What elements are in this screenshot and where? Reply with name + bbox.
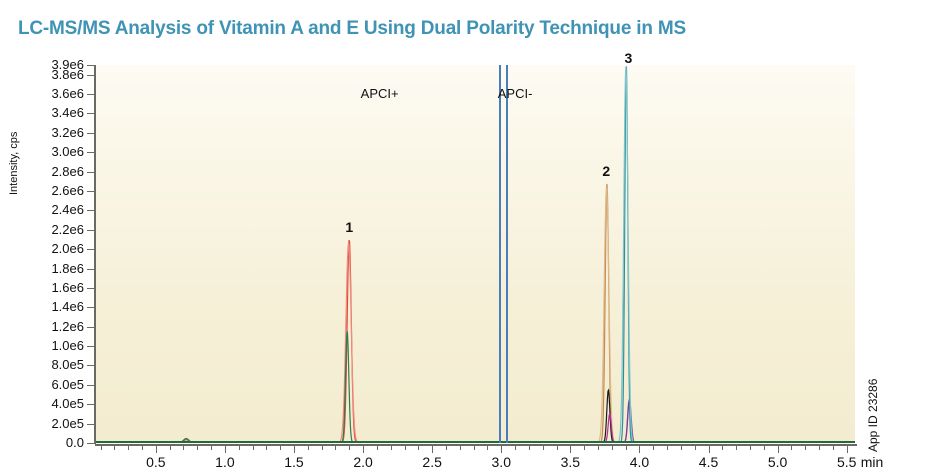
- x-axis-tick-minor: [211, 446, 212, 450]
- x-axis-tick-minor: [791, 446, 792, 450]
- x-axis-tick-minor: [805, 446, 806, 450]
- x-axis-tick-minor: [460, 446, 461, 450]
- x-axis-tick-minor: [391, 446, 392, 450]
- x-axis-tick-minor: [750, 446, 751, 450]
- x-axis-tick-minor: [377, 446, 378, 450]
- x-axis-tick-minor: [626, 446, 627, 450]
- x-axis-tick-minor: [515, 446, 516, 450]
- trace-trace-tanlight-vitE: [95, 187, 855, 442]
- y-axis-tick: [87, 172, 95, 173]
- x-axis-tick-major: [501, 446, 502, 453]
- y-axis-tick: [87, 443, 95, 444]
- x-axis-tick-minor: [239, 446, 240, 450]
- y-axis-tick: [87, 404, 95, 405]
- peak-label-2: 2: [602, 163, 610, 179]
- y-axis-tick: [87, 191, 95, 192]
- y-axis-tick-label: 3.4e6: [51, 106, 84, 119]
- y-axis-tick-label: 6.0e5: [51, 378, 84, 391]
- page-title: LC-MS/MS Analysis of Vitamin A and E Usi…: [18, 18, 686, 40]
- trace-trace-red-vitA: [95, 240, 855, 443]
- peak-label-1: 1: [345, 219, 353, 235]
- y-axis-tick-label: 3.0e6: [51, 145, 84, 158]
- x-axis-tick-minor: [335, 446, 336, 450]
- x-axis-tick-minor: [266, 446, 267, 450]
- x-axis-tick-minor: [833, 446, 834, 450]
- x-axis-tick-minor: [418, 446, 419, 450]
- x-axis-tick-minor: [598, 446, 599, 450]
- y-axis-tick: [87, 327, 95, 328]
- x-axis-tick-label: 1.0: [215, 454, 234, 470]
- x-axis-tick-label: 1.5: [284, 454, 303, 470]
- y-axis-tick-label: 2.4e6: [51, 203, 84, 216]
- x-axis-tick-minor: [736, 446, 737, 450]
- x-axis-tick-minor: [308, 446, 309, 450]
- x-axis-tick-minor: [653, 446, 654, 450]
- x-axis-tick-label: 5.0: [768, 454, 787, 470]
- y-axis-tick-label: 1.4e6: [51, 300, 84, 313]
- y-axis-tick-label: 8.0e5: [51, 358, 84, 371]
- y-axis-tick-label: 1.2e6: [51, 320, 84, 333]
- x-axis-tick-minor: [322, 446, 323, 450]
- app-id-label: App ID 23286: [866, 379, 880, 452]
- y-axis-tick: [87, 307, 95, 308]
- y-axis-tick: [87, 65, 95, 66]
- x-axis-tick-major: [570, 446, 571, 453]
- annotation-apci-positive: APCI+: [361, 86, 399, 101]
- x-axis-tick-minor: [529, 446, 530, 450]
- x-axis-tick-minor: [764, 446, 765, 450]
- plot-area[interactable]: [95, 65, 855, 443]
- x-axis-tick-minor: [128, 446, 129, 450]
- chromatogram-traces: [95, 65, 855, 443]
- x-axis-tick-label: 2.0: [353, 454, 372, 470]
- trace-trace-teal-vitE: [95, 66, 855, 442]
- y-axis-tick-label: 1.8e6: [51, 262, 84, 275]
- trace-trace-black: [95, 390, 855, 442]
- y-axis-line: [94, 65, 96, 444]
- y-axis-tick-label: 4.0e5: [51, 397, 84, 410]
- y-axis-tick-label: 2.8e6: [51, 165, 84, 178]
- x-axis-tick-label: 4.5: [699, 454, 718, 470]
- x-axis-tick-label: 2.5: [422, 454, 441, 470]
- x-axis-tick-minor: [667, 446, 668, 450]
- y-axis-tick-label: 3.9e6: [51, 58, 84, 71]
- x-axis-tick-minor: [101, 446, 102, 450]
- x-axis-tick-major: [778, 446, 779, 453]
- x-axis-tick-label: 3.5: [561, 454, 580, 470]
- x-axis-tick-major: [363, 446, 364, 453]
- x-axis-tick-minor: [446, 446, 447, 450]
- y-axis-title: Intensity, cps: [8, 132, 20, 195]
- x-axis-tick-minor: [557, 446, 558, 450]
- x-axis-tick-minor: [543, 446, 544, 450]
- x-axis-tick-minor: [819, 446, 820, 450]
- y-axis-tick: [87, 113, 95, 114]
- trace-trace-purple: [95, 399, 855, 442]
- x-axis-tick-label: 4.0: [630, 454, 649, 470]
- y-axis-tick-label: 2.0e6: [51, 242, 84, 255]
- y-axis-tick-label: 1.0e6: [51, 339, 84, 352]
- x-axis-tick-minor: [253, 446, 254, 450]
- x-axis-tick-major: [294, 446, 295, 453]
- x-axis-tick-minor: [142, 446, 143, 450]
- trace-trace-salmon-vitA: [95, 243, 855, 443]
- trace-trace-green-is: [95, 332, 855, 442]
- x-axis-tick-minor: [349, 446, 350, 450]
- y-axis-tick: [87, 385, 95, 386]
- x-axis-tick-minor: [584, 446, 585, 450]
- x-axis-tick-minor: [474, 446, 475, 450]
- baseline: [95, 441, 855, 443]
- y-axis-tick-label: 3.2e6: [51, 126, 84, 139]
- x-axis-tick-minor: [197, 446, 198, 450]
- y-axis-tick: [87, 152, 95, 153]
- x-axis-tick-major: [225, 446, 226, 453]
- annotation-apci-negative: APCI-: [498, 86, 533, 101]
- y-axis-tick-label: 2.0e5: [51, 417, 84, 430]
- x-axis-tick-major: [847, 446, 848, 453]
- x-axis-tick-major: [156, 446, 157, 453]
- trace-trace-magenta: [95, 401, 855, 443]
- y-axis-tick: [87, 288, 95, 289]
- y-axis-tick: [87, 210, 95, 211]
- y-axis-tick-label: 2.2e6: [51, 223, 84, 236]
- peak-label-3: 3: [624, 50, 632, 66]
- y-axis-tick: [87, 230, 95, 231]
- y-axis-tick: [87, 269, 95, 270]
- y-axis-tick: [87, 365, 95, 366]
- y-axis-tick: [87, 424, 95, 425]
- y-axis-tick: [87, 94, 95, 95]
- trace-trace-tan-vitE: [95, 184, 855, 443]
- x-axis-tick-major: [639, 446, 640, 453]
- y-axis-tick-label: 1.6e6: [51, 281, 84, 294]
- x-axis-tick-label: 5.5: [837, 454, 856, 470]
- trace-trace-teallight: [95, 67, 855, 443]
- x-axis-tick-minor: [183, 446, 184, 450]
- y-axis-tick-label: 2.6e6: [51, 184, 84, 197]
- x-axis-tick-minor: [722, 446, 723, 450]
- x-axis-tick-major: [432, 446, 433, 453]
- y-axis-tick: [87, 249, 95, 250]
- x-axis-tick-label: 3.0: [492, 454, 511, 470]
- x-axis-unit-label: min: [861, 454, 884, 470]
- x-axis-line: [95, 444, 857, 446]
- y-axis-tick: [87, 346, 95, 347]
- y-axis-tick-label: 3.6e6: [51, 87, 84, 100]
- polarity-divider-line: [499, 65, 508, 443]
- x-axis-tick-minor: [612, 446, 613, 450]
- y-axis-tick: [87, 133, 95, 134]
- x-axis-tick-minor: [280, 446, 281, 450]
- y-axis-tick: [87, 75, 95, 76]
- x-axis-tick-minor: [695, 446, 696, 450]
- x-axis-tick-minor: [681, 446, 682, 450]
- x-axis-tick-minor: [170, 446, 171, 450]
- x-axis-tick-major: [709, 446, 710, 453]
- x-axis-tick-label: 0.5: [146, 454, 165, 470]
- x-axis-tick-minor: [487, 446, 488, 450]
- x-axis-tick-minor: [405, 446, 406, 450]
- x-axis-tick-minor: [114, 446, 115, 450]
- y-axis-tick-label: 0.0: [66, 436, 84, 449]
- chromatogram-figure: LC-MS/MS Analysis of Vitamin A and E Usi…: [0, 0, 928, 473]
